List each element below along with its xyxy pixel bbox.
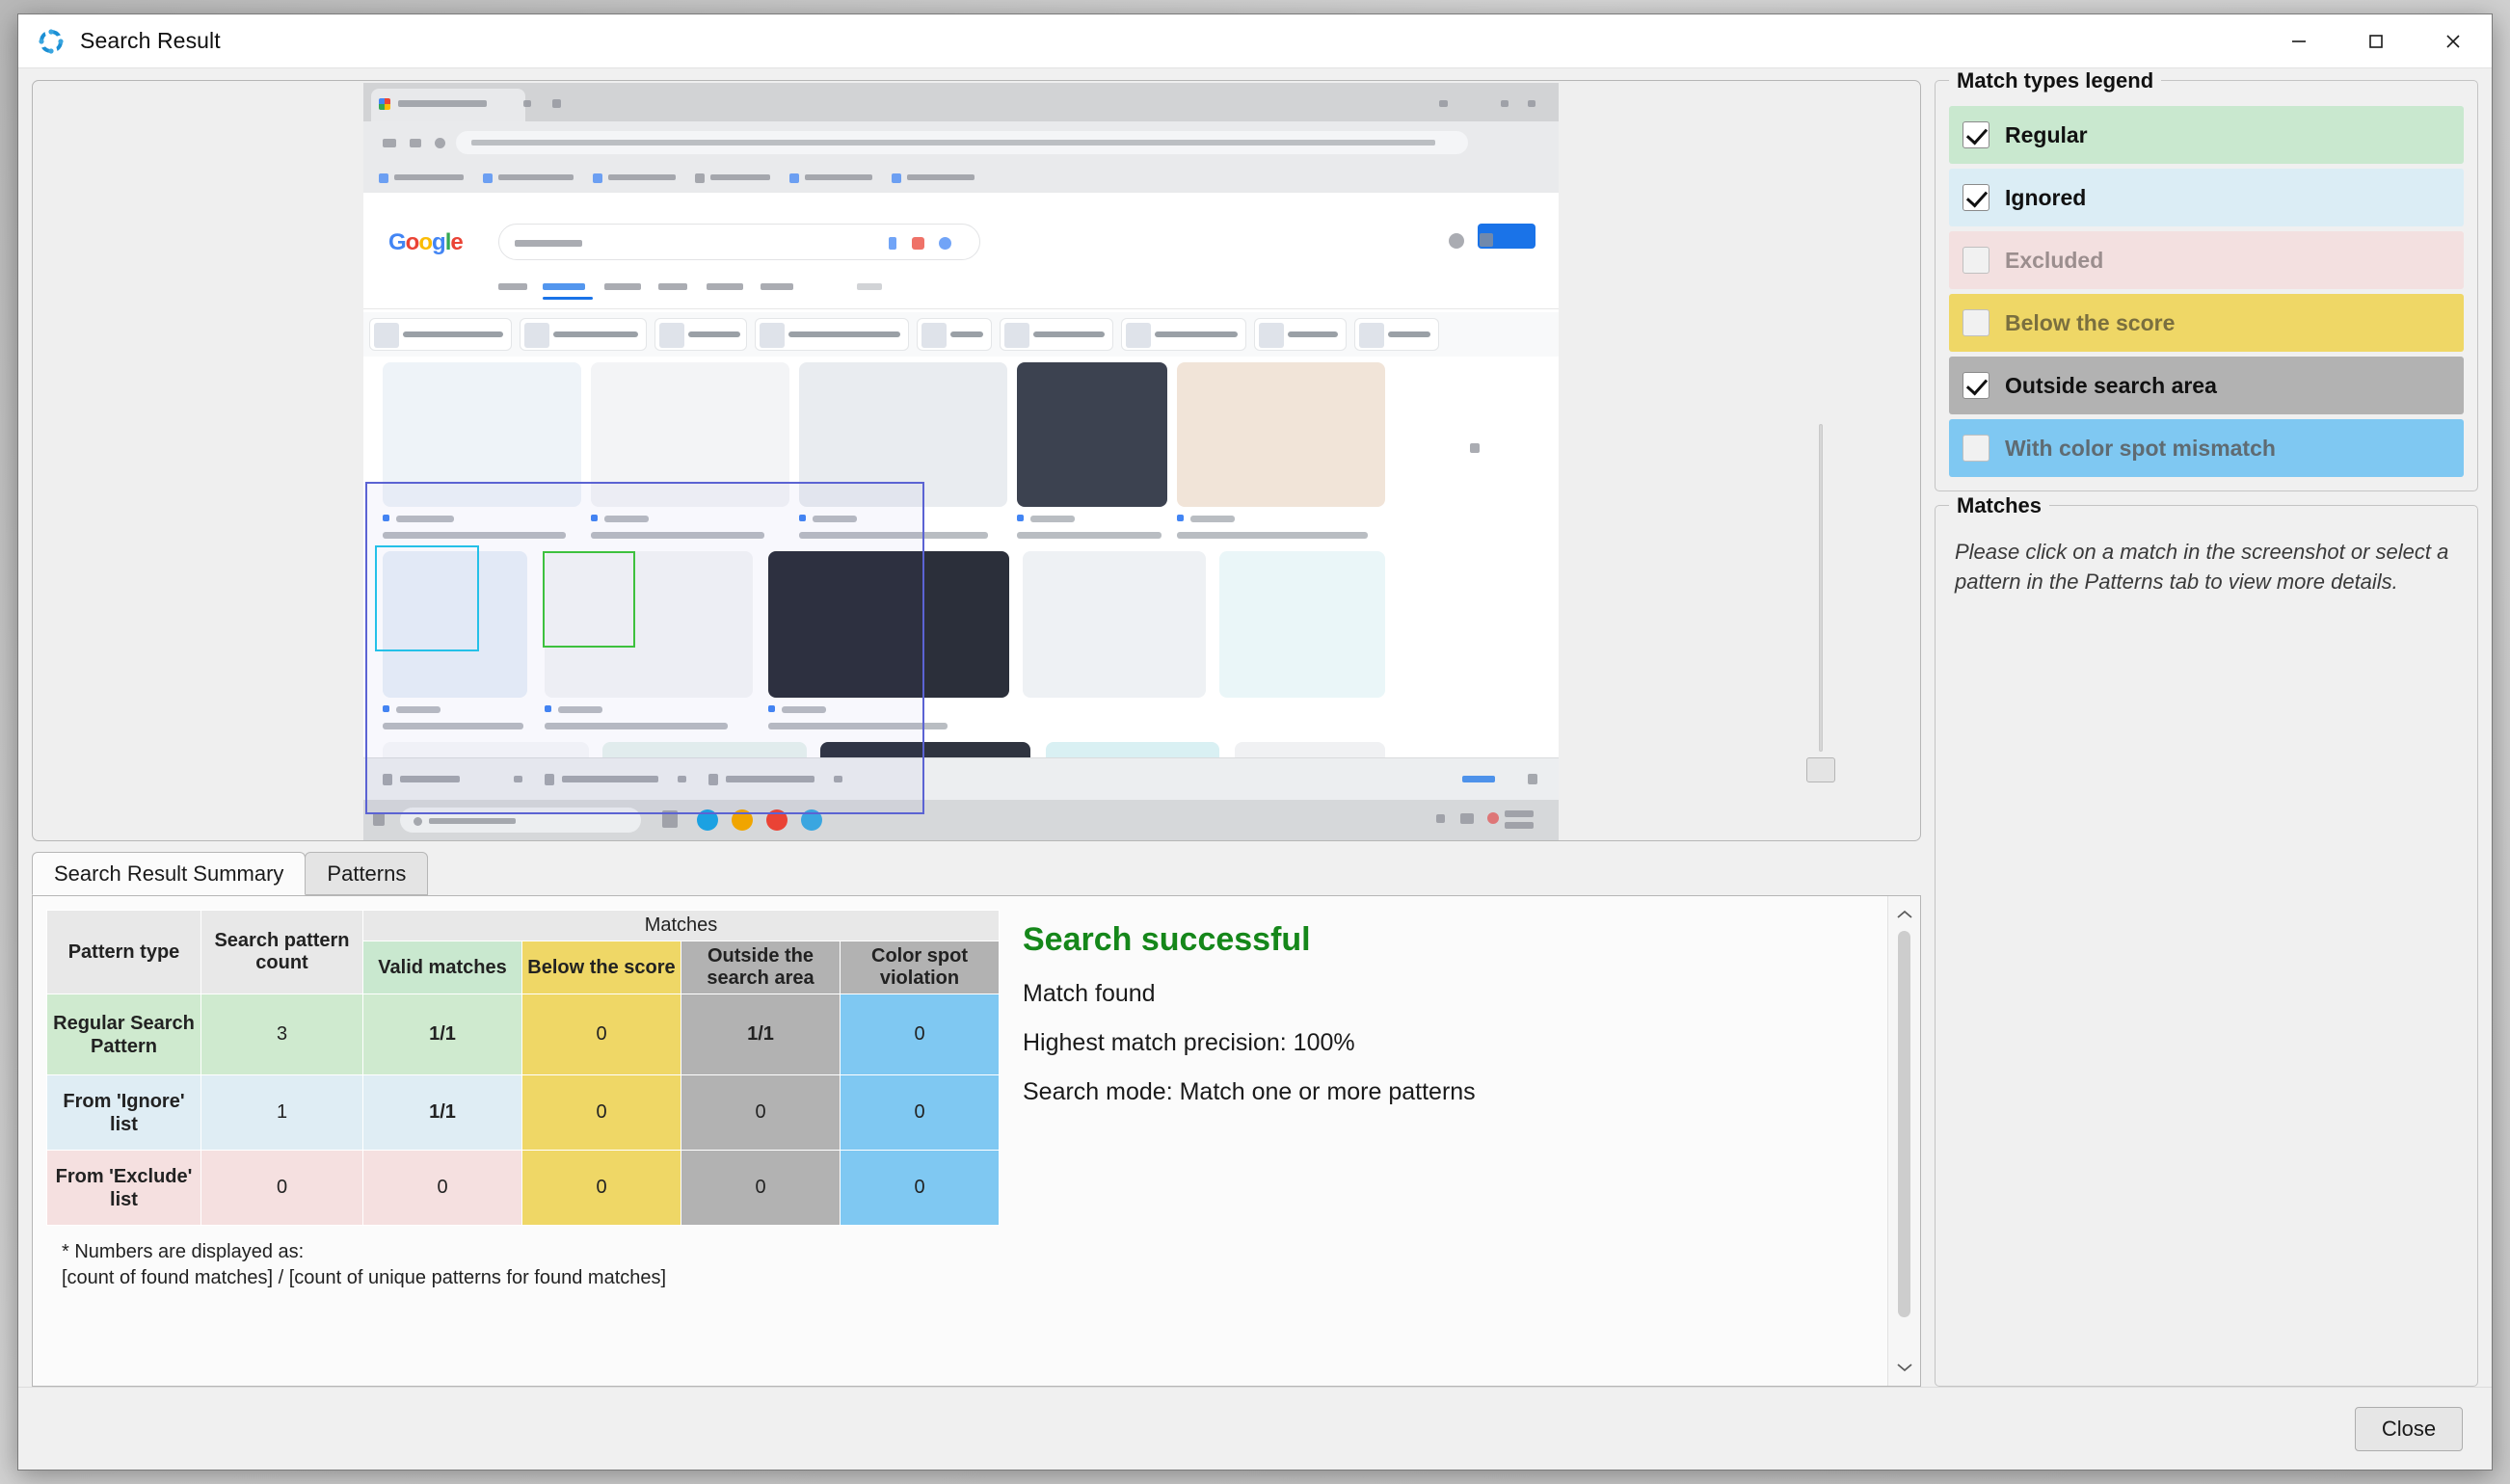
th-pattern-type: Pattern type <box>47 911 201 994</box>
matches-group: Matches Please click on a match in the s… <box>1935 505 2478 1387</box>
dialog-footer: Close <box>18 1387 2492 1470</box>
summary-footnote: * Numbers are displayed as: [count of fo… <box>62 1239 1000 1291</box>
matches-title: Matches <box>1949 493 2049 518</box>
search-result-details: Search successful Match found Highest ma… <box>1000 910 1887 1386</box>
left-column: Google <box>32 80 1921 1387</box>
cell-valid-matches: 1/1 <box>363 994 522 1075</box>
th-below-the-score: Below the score <box>522 941 681 994</box>
browser-bookmarks-bar <box>363 162 1559 193</box>
footnote-line-2: [count of found matches] / [count of uni… <box>62 1265 1000 1291</box>
cell-outside-search-area: 0 <box>681 1075 841 1151</box>
window-controls <box>2260 14 2492 67</box>
app-refresh-icon <box>36 26 67 57</box>
tab-label: Search Result Summary <box>54 861 283 887</box>
maximize-button[interactable] <box>2337 14 2415 67</box>
cell-valid-matches: 1/1 <box>363 1075 522 1151</box>
browser-viewport: Google <box>363 193 1559 840</box>
match-found-text: Match found <box>1023 980 1887 1008</box>
th-valid-matches: Valid matches <box>363 941 522 994</box>
scroll-down-icon[interactable] <box>1888 1353 1921 1382</box>
minimize-button[interactable] <box>2260 14 2337 67</box>
legend-label: Ignored <box>2005 185 2086 211</box>
match-highlight-regular[interactable] <box>543 551 635 648</box>
legend-label: Below the score <box>2005 310 2175 336</box>
legend-item-regular[interactable]: Regular <box>1949 106 2464 164</box>
tab-label: Patterns <box>327 861 406 887</box>
summary-vertical-scrollbar[interactable] <box>1887 896 1920 1386</box>
google-related-chips[interactable] <box>363 312 1559 357</box>
tab-search-result-summary[interactable]: Search Result Summary <box>32 852 306 895</box>
table-row[interactable]: Regular Search Pattern 3 1/1 0 1/1 0 <box>47 994 1000 1075</box>
legend-label: Excluded <box>2005 248 2103 274</box>
cell-pattern-type: From 'Ignore' list <box>47 1075 201 1151</box>
close-icon-button[interactable] <box>2415 14 2492 67</box>
embedded-screenshot[interactable]: Google <box>363 83 1559 840</box>
cell-below-the-score: 0 <box>522 994 681 1075</box>
google-logo: Google <box>388 229 463 256</box>
th-outside-search-area: Outside the search area <box>681 941 841 994</box>
google-vertical-tabs[interactable] <box>498 278 903 299</box>
cell-outside-search-area: 0 <box>681 1151 841 1226</box>
cell-search-pattern-count: 1 <box>201 1075 363 1151</box>
legend-item-outside-search-area[interactable]: Outside search area <box>1949 357 2464 414</box>
window-body: Google <box>18 68 2492 1387</box>
cell-outside-search-area: 1/1 <box>681 994 841 1075</box>
cell-search-pattern-count: 3 <box>201 994 363 1075</box>
legend-title: Match types legend <box>1949 68 2161 93</box>
cell-pattern-type: Regular Search Pattern <box>47 994 201 1075</box>
cell-valid-matches: 0 <box>363 1151 522 1226</box>
scrollbar-track[interactable] <box>1888 929 1921 1353</box>
footnote-line-1: * Numbers are displayed as: <box>62 1239 1000 1265</box>
screenshot-preview-panel[interactable]: Google <box>32 80 1921 841</box>
cell-search-pattern-count: 0 <box>201 1151 363 1226</box>
match-highlight-outside[interactable] <box>375 545 479 651</box>
checkbox-outside-search-area[interactable] <box>1963 372 1989 399</box>
cell-pattern-type: From 'Exclude' list <box>47 1151 201 1226</box>
checkbox-with-color-spot-mismatch[interactable] <box>1963 435 1989 462</box>
legend-item-with-color-spot-mismatch[interactable]: With color spot mismatch <box>1949 419 2464 477</box>
zoom-slider-track[interactable] <box>1819 424 1823 752</box>
summary-table: Pattern type Search pattern count Matche… <box>46 910 1000 1226</box>
search-mode-text: Search mode: Match one or more patterns <box>1023 1078 1887 1106</box>
title-bar: Search Result <box>18 14 2492 68</box>
legend-item-ignored[interactable]: Ignored <box>1949 169 2464 226</box>
window-title: Search Result <box>80 28 221 54</box>
table-row[interactable]: From 'Exclude' list 0 0 0 0 0 <box>47 1151 1000 1226</box>
checkbox-ignored[interactable] <box>1963 184 1989 211</box>
legend-item-excluded[interactable]: Excluded <box>1949 231 2464 289</box>
summary-table-wrap: Pattern type Search pattern count Matche… <box>46 910 1000 1386</box>
legend-item-below-the-score[interactable]: Below the score <box>1949 294 2464 352</box>
search-result-window: Search Result <box>17 13 2493 1471</box>
browser-tabstrip <box>363 83 1559 121</box>
checkbox-excluded[interactable] <box>1963 247 1989 274</box>
cell-below-the-score: 0 <box>522 1151 681 1226</box>
tab-strip: Search Result Summary Patterns <box>32 853 1921 896</box>
cell-color-spot-violation: 0 <box>841 1075 1000 1151</box>
search-status-title: Search successful <box>1023 921 1887 959</box>
scroll-up-icon[interactable] <box>1888 900 1921 929</box>
favicon-icon <box>379 98 390 110</box>
th-matches-group: Matches <box>363 911 1000 941</box>
legend-label: With color spot mismatch <box>2005 436 2276 462</box>
cell-below-the-score: 0 <box>522 1075 681 1151</box>
cell-color-spot-violation: 0 <box>841 994 1000 1075</box>
zoom-slider-thumb[interactable] <box>1806 757 1835 782</box>
right-column: Match types legend Regular Ignored Exclu… <box>1935 80 2478 1387</box>
th-color-spot-violation: Color spot violation <box>841 941 1000 994</box>
legend-label: Regular <box>2005 122 2088 148</box>
match-types-legend-group: Match types legend Regular Ignored Exclu… <box>1935 80 2478 491</box>
browser-urlbar[interactable] <box>456 131 1468 154</box>
search-result-summary-pane: Pattern type Search pattern count Matche… <box>32 896 1921 1387</box>
legend-label: Outside search area <box>2005 373 2217 399</box>
scrollbar-thumb[interactable] <box>1898 931 1910 1317</box>
matches-hint-text: Please click on a match in the screensho… <box>1949 531 2464 596</box>
th-search-pattern-count: Search pattern count <box>201 911 363 994</box>
tab-patterns[interactable]: Patterns <box>305 852 428 895</box>
checkbox-below-the-score[interactable] <box>1963 309 1989 336</box>
highest-match-precision-text: Highest match precision: 100% <box>1023 1029 1887 1057</box>
cell-color-spot-violation: 0 <box>841 1151 1000 1226</box>
table-row[interactable]: From 'Ignore' list 1 1/1 0 0 0 <box>47 1075 1000 1151</box>
zoom-slider[interactable] <box>1806 424 1835 782</box>
checkbox-regular[interactable] <box>1963 121 1989 148</box>
table-header-group-row: Pattern type Search pattern count Matche… <box>47 911 1000 941</box>
google-search-input[interactable] <box>498 224 980 260</box>
close-button[interactable]: Close <box>2355 1407 2463 1451</box>
